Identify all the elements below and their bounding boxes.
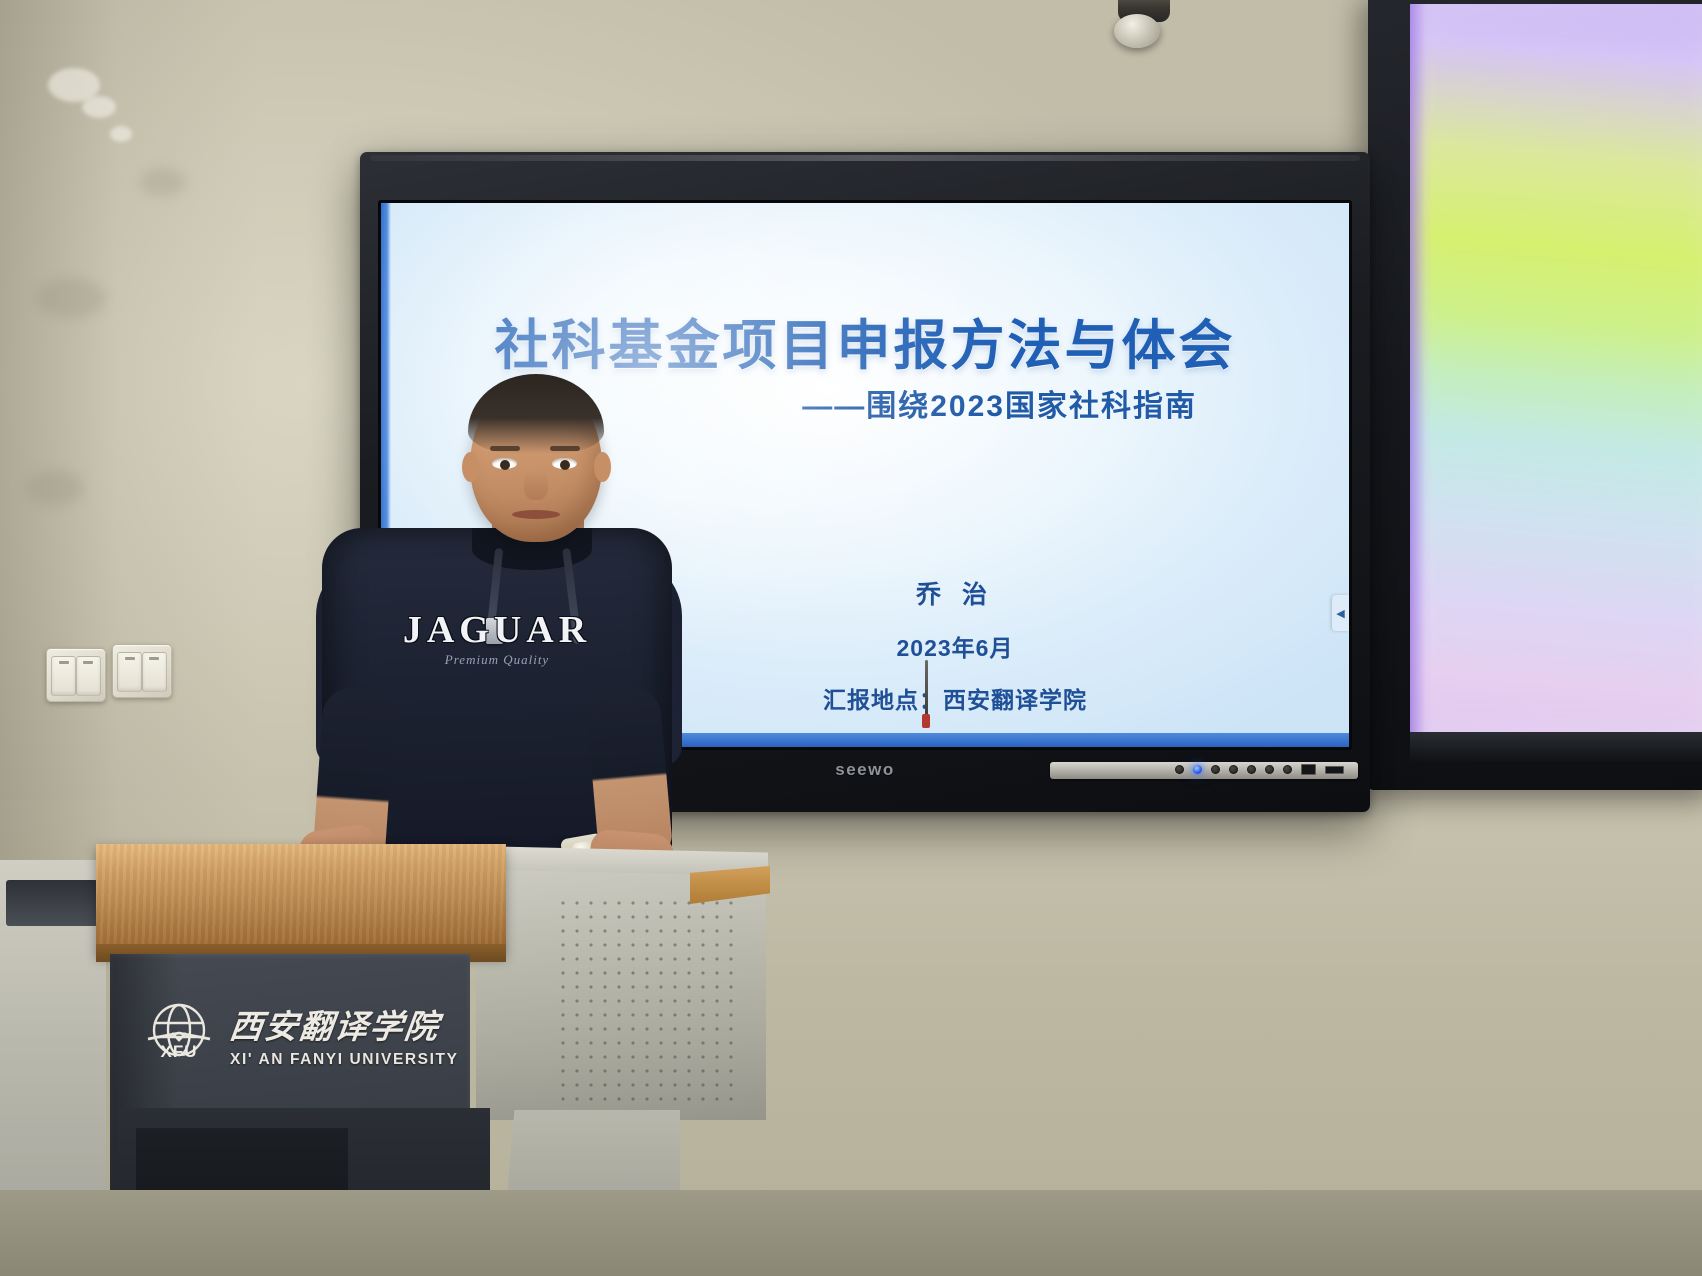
presenter-nose	[524, 470, 548, 500]
switch-indicator-dot	[59, 661, 69, 664]
whiteboard-control-panel[interactable]	[1175, 764, 1344, 775]
slide-title: 社科基金项目申报方法与体会	[381, 301, 1349, 380]
shirt-brand-text: JAGUAR	[322, 608, 672, 652]
presenter-pupil-right	[560, 460, 570, 470]
secondary-display-screen[interactable]	[1410, 4, 1702, 732]
power-button[interactable]	[1193, 765, 1202, 774]
control-button[interactable]	[1247, 765, 1256, 774]
presenter-eyebrow-right	[550, 446, 580, 451]
wall-smudge	[36, 278, 106, 318]
wall-paint-stain	[82, 96, 116, 118]
light-switch-left[interactable]	[46, 648, 106, 702]
podium-speaker-grille	[556, 896, 734, 1110]
wall-smudge	[26, 470, 84, 506]
control-button[interactable]	[1229, 765, 1238, 774]
board-top-highlight	[370, 155, 1360, 161]
university-logo-text: 西安翻译学院 XI' AN FANYI UNIVERSITY	[230, 1000, 459, 1069]
light-switch-right[interactable]	[112, 644, 172, 698]
screen-edge-glow	[1410, 4, 1432, 732]
presenter-eyebrow-left	[490, 446, 520, 451]
control-button[interactable]	[1265, 765, 1274, 774]
whiteboard-brand-label: seewo	[835, 760, 894, 780]
switch-rocker[interactable]	[51, 656, 76, 696]
podium-wood-desktop	[96, 844, 506, 956]
usb-port[interactable]	[1301, 764, 1316, 775]
presenter-ear-right	[594, 452, 611, 482]
switch-indicator-dot	[83, 661, 93, 664]
switch-rocker[interactable]	[117, 652, 142, 692]
hdmi-port[interactable]	[1325, 766, 1344, 774]
floor	[0, 1190, 1702, 1276]
presenter-mouth	[512, 510, 560, 519]
switch-rocker[interactable]	[142, 652, 167, 692]
control-button[interactable]	[1211, 765, 1220, 774]
classroom-scene: 社科基金项目申报方法与体会 ——围绕2023国家社科指南 乔 治 2023年6月…	[0, 0, 1702, 1276]
secondary-display-bezel	[1410, 732, 1702, 762]
presenter-ear-left	[462, 452, 479, 482]
control-button[interactable]	[1283, 765, 1292, 774]
switch-indicator-dot	[149, 657, 159, 660]
university-name-cn: 西安翻译学院	[227, 1000, 461, 1048]
display-cable	[925, 660, 928, 718]
university-name-en: XI' AN FANYI UNIVERSITY	[230, 1051, 459, 1069]
wall-paint-stain	[110, 126, 132, 142]
presenter-pupil-left	[500, 460, 510, 470]
wall-smudge	[140, 168, 186, 196]
shirt-sub-text: Premium Quality	[322, 652, 672, 668]
university-logo: XFU 西安翻译学院 XI' AN FANYI UNIVERSITY	[142, 988, 472, 1080]
podium-left-shelf	[6, 880, 98, 926]
sidebar-collapse-icon[interactable]: ◀	[1332, 595, 1349, 631]
switch-indicator-dot	[125, 657, 135, 660]
switch-rocker[interactable]	[76, 656, 101, 696]
xfu-globe-icon: XFU	[142, 997, 216, 1071]
control-button[interactable]	[1175, 765, 1184, 774]
display-cable-connector	[922, 714, 930, 728]
svg-text:XFU: XFU	[161, 1042, 198, 1061]
secondary-display[interactable]	[1368, 0, 1702, 790]
ceiling-light-dome	[1114, 14, 1160, 48]
